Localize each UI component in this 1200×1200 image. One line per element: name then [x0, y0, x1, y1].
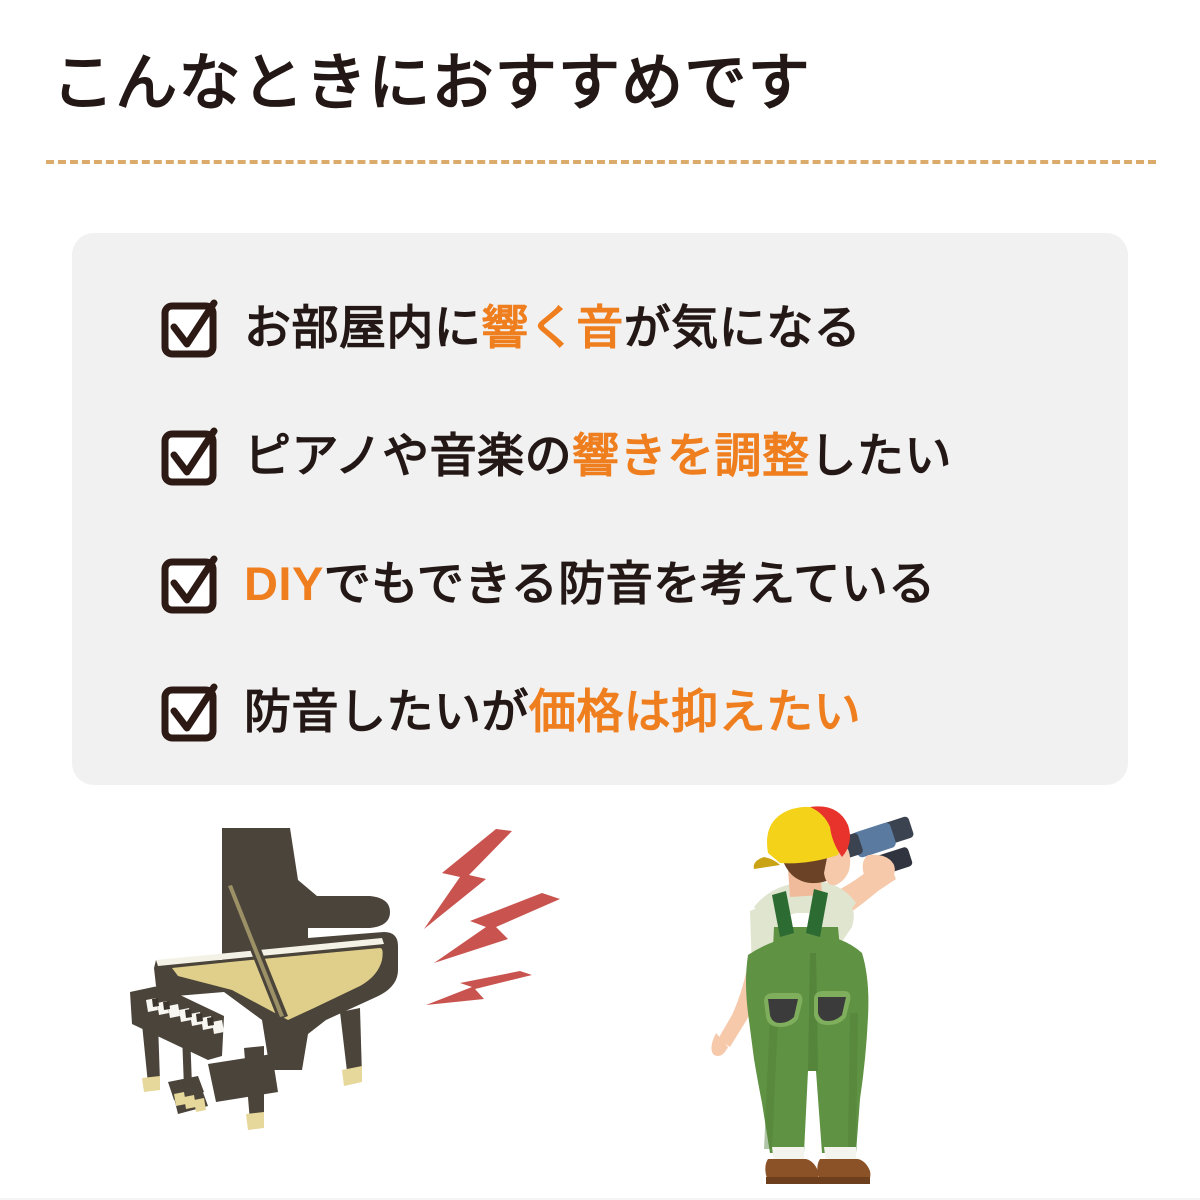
list-item-label: お部屋内に響く音が気になる — [244, 304, 861, 351]
checkbox-checked-icon — [160, 294, 218, 360]
segment-plain: が気になる — [624, 301, 861, 354]
checkbox-checked-icon — [160, 422, 218, 488]
list-item: お部屋内に響く音が気になる — [160, 263, 1128, 391]
benefits-panel: お部屋内に響く音が気になる ピアノや音楽の響きを調整したい — [72, 233, 1128, 785]
segment-plain: 防音したいが — [244, 685, 529, 738]
segment-highlight: 価格は抑えたい — [529, 685, 861, 738]
segment-plain: ピアノや音楽の — [244, 429, 572, 482]
segment-plain: でもできる防音を考えている — [324, 557, 936, 610]
dashed-divider — [46, 160, 1156, 164]
list-item: ピアノや音楽の響きを調整したい — [160, 391, 1128, 519]
checklist: お部屋内に響く音が気になる ピアノや音楽の響きを調整したい — [72, 233, 1128, 785]
segment-highlight: 響く音 — [481, 301, 623, 354]
poster-root: こんなときにおすすめです お部屋内に響く音が気になる — [0, 0, 1200, 1200]
segment-plain: したい — [809, 429, 951, 482]
noise-bolts-icon — [412, 817, 572, 1037]
checkbox-checked-icon — [160, 678, 218, 744]
grand-piano-icon — [112, 820, 402, 1140]
list-item: 防音したいが価格は抑えたい — [160, 647, 1128, 775]
page-title: こんなときにおすすめです — [52, 48, 811, 119]
checkbox-checked-icon — [160, 550, 218, 616]
list-item: DIYでもできる防音を考えている — [160, 519, 1128, 647]
list-item-label: 防音したいが価格は抑えたい — [244, 688, 861, 735]
list-item-label: DIYでもできる防音を考えている — [244, 560, 936, 607]
list-item-label: ピアノや音楽の響きを調整したい — [244, 432, 952, 479]
segment-plain: お部屋内に — [244, 301, 481, 354]
illustration-row — [0, 795, 1200, 1195]
diy-worker-icon — [692, 803, 942, 1188]
segment-highlight: 響きを調整 — [572, 429, 809, 482]
segment-highlight: DIY — [244, 557, 324, 610]
